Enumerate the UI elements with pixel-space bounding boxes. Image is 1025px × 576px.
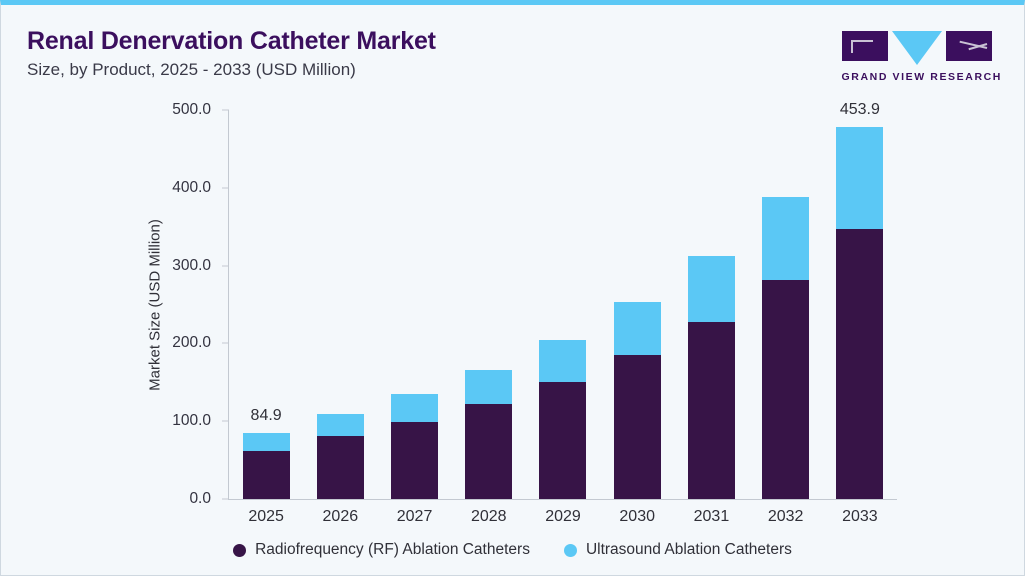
bar-segment-radiofrequency[interactable] xyxy=(539,382,586,499)
bar-group-2028[interactable]: 2028 xyxy=(452,110,526,499)
y-axis-tick-label: 200.0 xyxy=(79,334,229,352)
y-axis-tick-label: 100.0 xyxy=(79,412,229,430)
y-axis-tick-mark xyxy=(222,343,229,344)
y-axis-tick-mark xyxy=(222,499,229,500)
bar-segment-radiofrequency[interactable] xyxy=(688,322,735,499)
y-axis-tick-mark xyxy=(222,110,229,111)
bar-segment-radiofrequency[interactable] xyxy=(762,280,809,499)
bar-segment-radiofrequency[interactable] xyxy=(465,404,512,499)
brand-logo: GRAND VIEW RESEARCH xyxy=(842,31,1003,83)
bar-segment-radiofrequency[interactable] xyxy=(836,229,883,499)
stacked-bar[interactable] xyxy=(836,127,883,499)
bar-segment-radiofrequency[interactable] xyxy=(614,355,661,499)
bar-segment-ultrasound[interactable] xyxy=(465,370,512,404)
x-axis-tick-label: 2030 xyxy=(619,508,655,526)
bar-segment-ultrasound[interactable] xyxy=(391,394,438,422)
bar-segment-ultrasound[interactable] xyxy=(243,433,290,451)
chart-header: Renal Denervation Catheter Market Size, … xyxy=(27,27,436,80)
stacked-bar[interactable] xyxy=(688,256,735,500)
y-axis-tick-mark xyxy=(222,421,229,422)
bar-group-2030[interactable]: 2030 xyxy=(600,110,674,499)
bar-value-label: 453.9 xyxy=(840,101,880,119)
legend-label: Radiofrequency (RF) Ablation Catheters xyxy=(255,541,530,559)
x-axis-line xyxy=(228,499,897,500)
y-axis-tick-label: 0.0 xyxy=(79,490,229,508)
y-axis-tick-label: 500.0 xyxy=(79,101,229,119)
x-axis-tick-label: 2027 xyxy=(397,508,433,526)
page-subtitle: Size, by Product, 2025 - 2033 (USD Milli… xyxy=(27,60,436,80)
rect-corner-icon xyxy=(842,31,888,61)
y-axis-tick-mark xyxy=(222,187,229,188)
stacked-bar[interactable] xyxy=(465,370,512,499)
legend-item-ultrasound[interactable]: Ultrasound Ablation Catheters xyxy=(564,541,792,559)
stacked-bar[interactable] xyxy=(614,302,661,499)
bar-segment-ultrasound[interactable] xyxy=(317,414,364,436)
stacked-bar[interactable] xyxy=(317,414,364,499)
stacked-bar[interactable] xyxy=(391,394,438,499)
bar-group-2027[interactable]: 2027 xyxy=(377,110,451,499)
stacked-bar[interactable] xyxy=(762,197,809,499)
bar-group-2025[interactable]: 84.92025 xyxy=(229,110,303,499)
x-axis-tick-label: 2029 xyxy=(545,508,581,526)
bar-value-label: 84.9 xyxy=(251,407,282,425)
plot-area: Market Size (USD Million) 0.0100.0200.03… xyxy=(229,110,897,499)
y-axis-tick-label: 300.0 xyxy=(79,257,229,275)
chart-legend: Radiofrequency (RF) Ablation CathetersUl… xyxy=(1,541,1024,559)
legend-color-swatch xyxy=(564,544,577,557)
bar-group-2031[interactable]: 2031 xyxy=(674,110,748,499)
bar-segment-radiofrequency[interactable] xyxy=(391,422,438,499)
bar-segment-ultrasound[interactable] xyxy=(688,256,735,323)
triangle-down-icon xyxy=(892,31,942,65)
bar-segment-ultrasound[interactable] xyxy=(762,197,809,280)
y-axis-tick-label: 400.0 xyxy=(79,179,229,197)
legend-label: Ultrasound Ablation Catheters xyxy=(586,541,792,559)
logo-marks xyxy=(842,31,1003,65)
x-axis-tick-label: 2028 xyxy=(471,508,507,526)
page-title: Renal Denervation Catheter Market xyxy=(27,27,436,56)
bar-segment-ultrasound[interactable] xyxy=(614,302,661,355)
bar-segment-radiofrequency[interactable] xyxy=(243,451,290,499)
bar-group-2029[interactable]: 2029 xyxy=(526,110,600,499)
x-axis-tick-label: 2026 xyxy=(323,508,359,526)
y-axis-label: Market Size (USD Million) xyxy=(146,219,163,391)
x-axis-tick-label: 2031 xyxy=(694,508,730,526)
bar-segment-ultrasound[interactable] xyxy=(836,127,883,229)
x-axis-tick-label: 2033 xyxy=(842,508,878,526)
chart-card: Renal Denervation Catheter Market Size, … xyxy=(0,0,1025,576)
y-axis-tick-mark xyxy=(222,265,229,266)
logo-wordmark: GRAND VIEW RESEARCH xyxy=(842,71,1003,83)
bar-group-2032[interactable]: 2032 xyxy=(749,110,823,499)
stacked-bar[interactable] xyxy=(539,340,586,499)
bar-group-2033[interactable]: 453.92033 xyxy=(823,110,897,499)
legend-color-swatch xyxy=(233,544,246,557)
bar-segment-radiofrequency[interactable] xyxy=(317,436,364,499)
stacked-bar[interactable] xyxy=(243,433,290,499)
bar-series-group: 84.920252026202720282029203020312032453.… xyxy=(229,110,897,499)
x-axis-tick-label: 2025 xyxy=(248,508,284,526)
bar-group-2026[interactable]: 2026 xyxy=(303,110,377,499)
legend-item-radiofrequency[interactable]: Radiofrequency (RF) Ablation Catheters xyxy=(233,541,530,559)
bar-segment-ultrasound[interactable] xyxy=(539,340,586,383)
x-axis-tick-label: 2032 xyxy=(768,508,804,526)
rect-arrow-icon xyxy=(946,31,992,61)
